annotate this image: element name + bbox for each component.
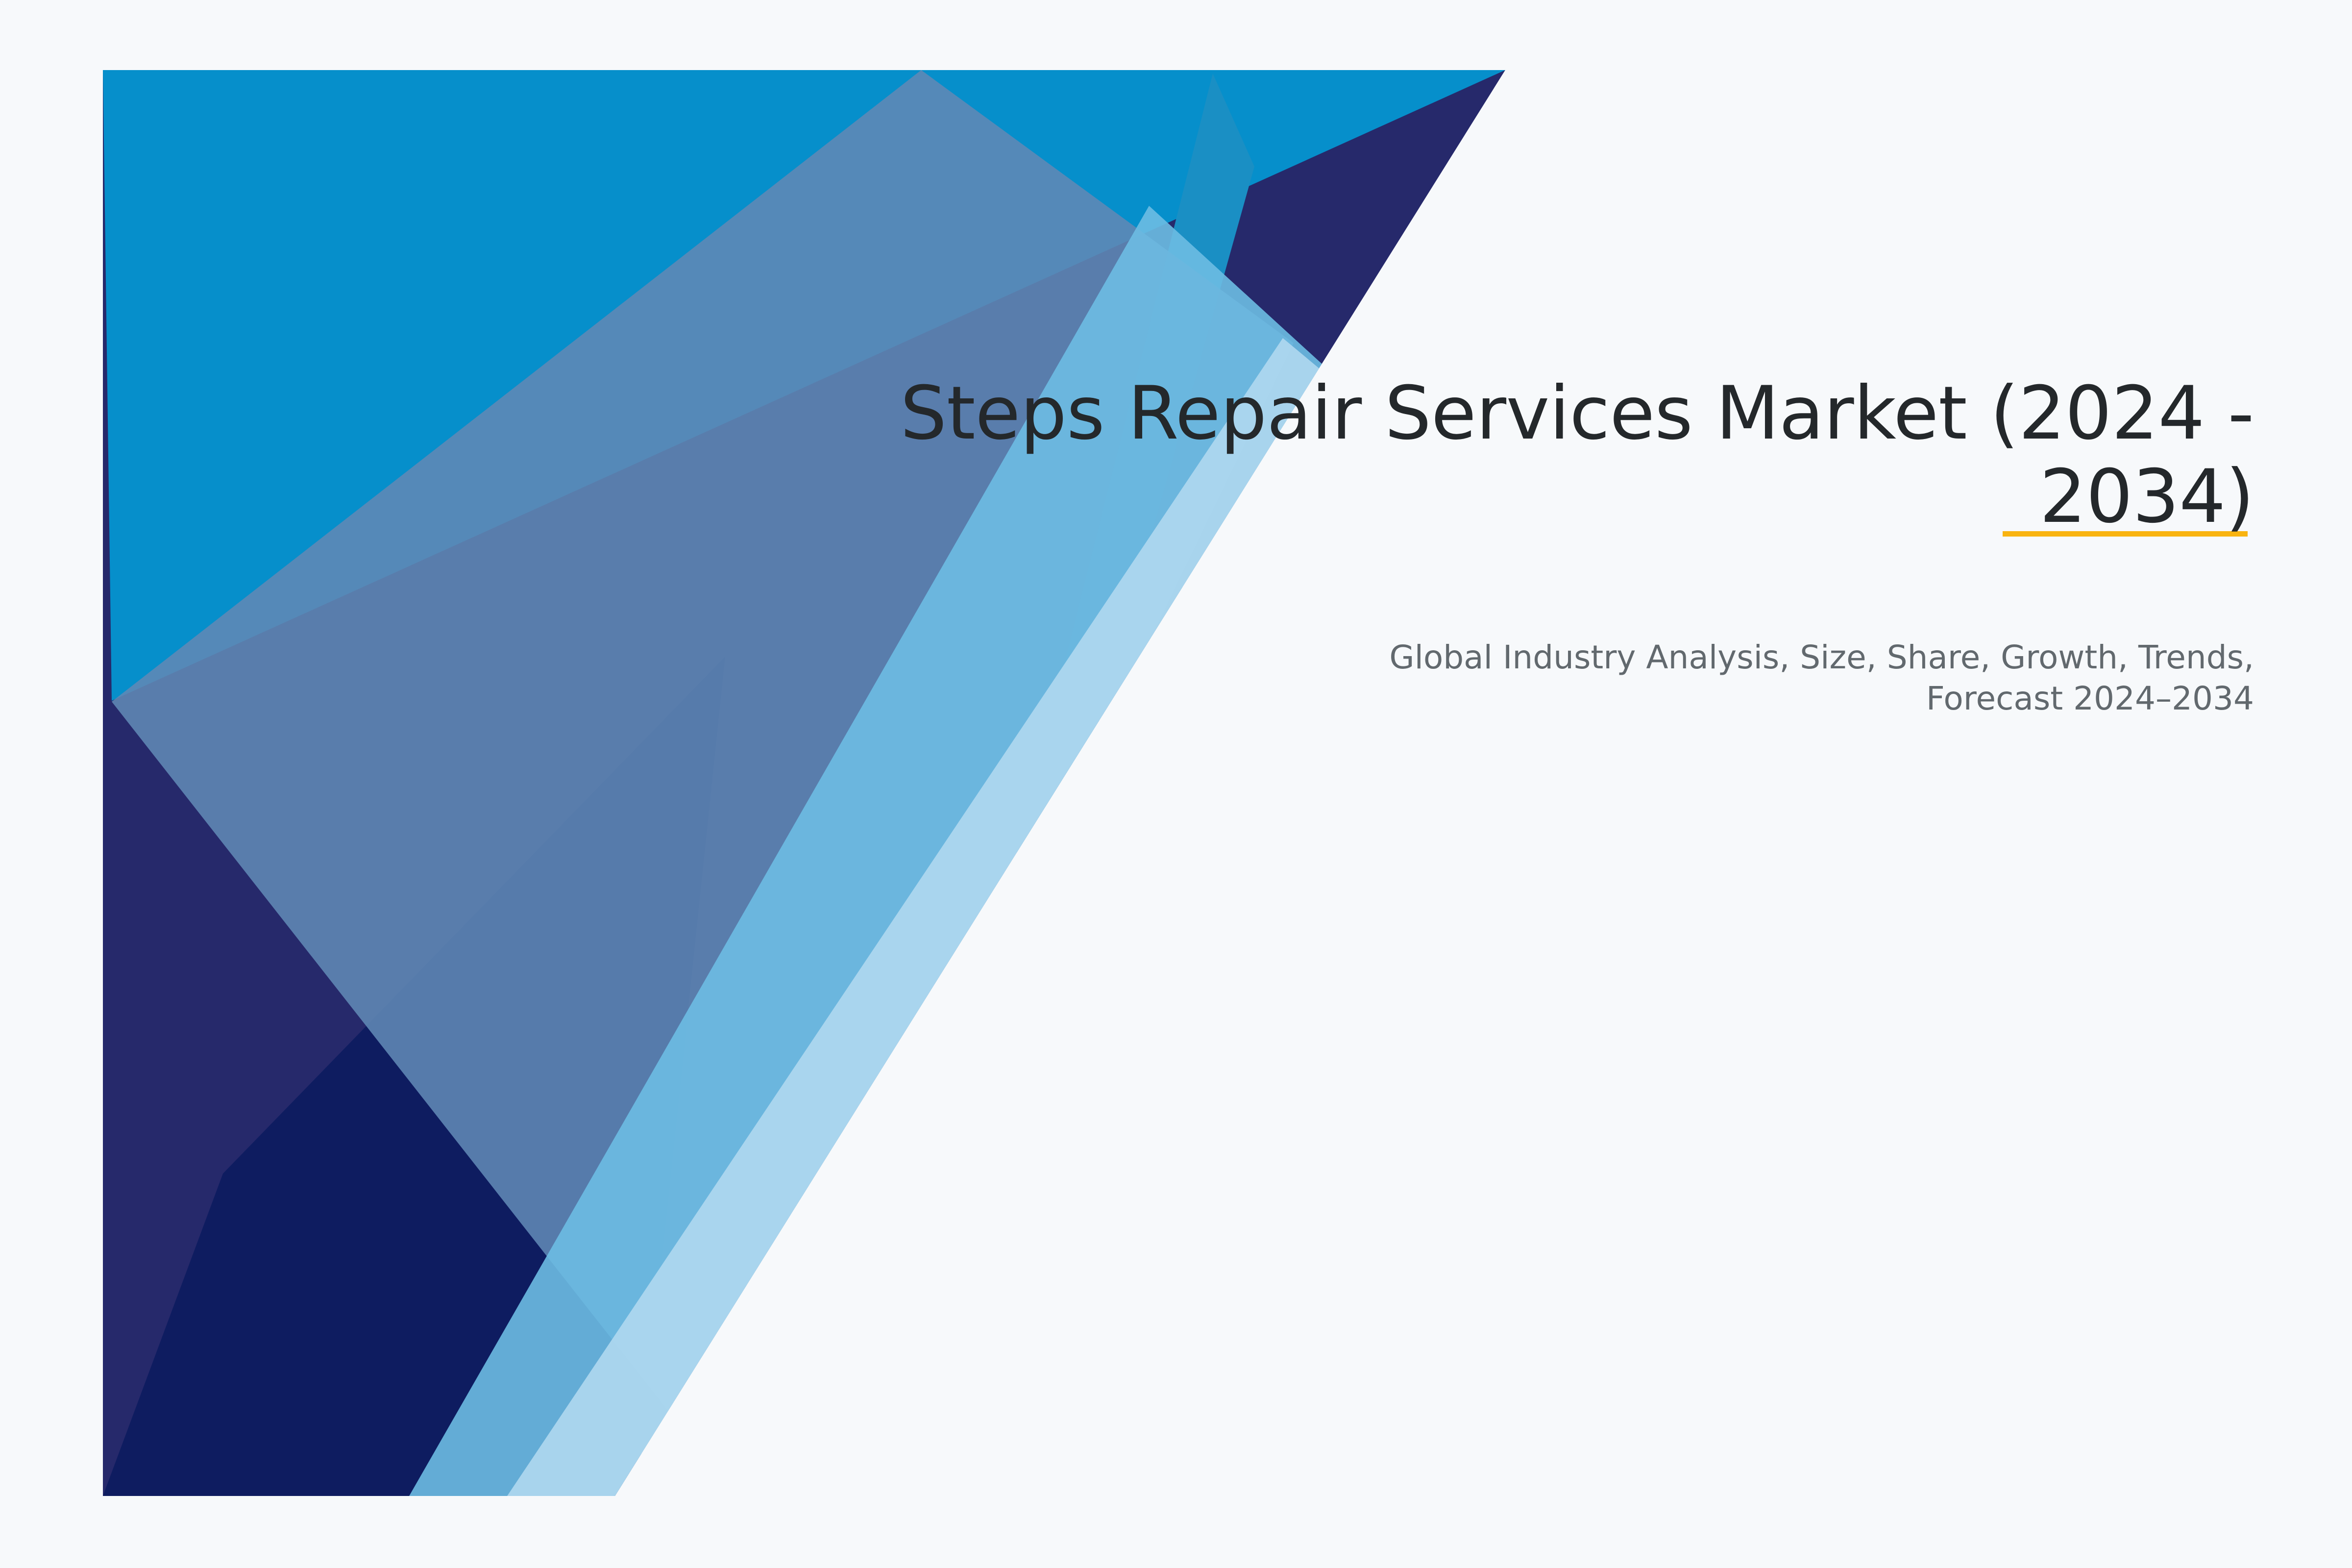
page-subtitle: Global Industry Analysis, Size, Share, G…: [1274, 637, 2254, 720]
cover-page: Steps Repair Services Market (2024 - 203…: [0, 0, 2352, 1568]
page-title: Steps Repair Services Market (2024 - 203…: [784, 372, 2254, 539]
abstract-geometric-graphic: [0, 0, 2352, 1568]
cover-text-block: Steps Repair Services Market (2024 - 203…: [784, 372, 2254, 539]
